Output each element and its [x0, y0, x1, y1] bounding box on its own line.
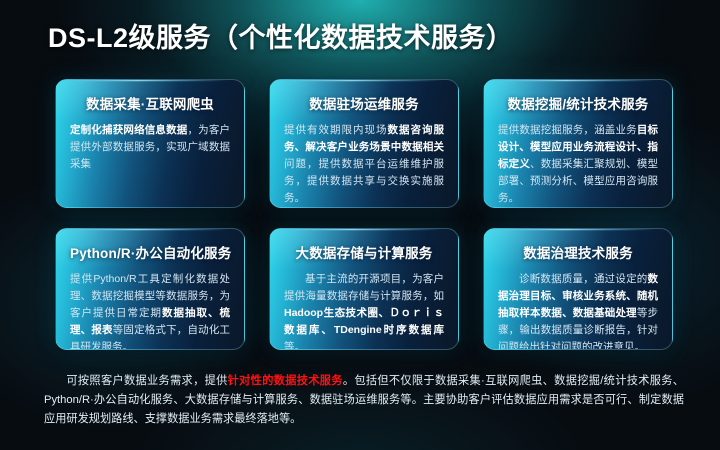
service-card-data-mining[interactable]: 数据挖掘/统计技术服务 提供数据挖掘服务，涵盖业务目标设计、模型应用业务流程设计…	[483, 79, 673, 208]
service-card-data-governance[interactable]: 数据治理技术服务 诊断数据质量，通过设定的数据治理目标、审核业务系统、随机抽取样…	[483, 228, 673, 350]
card-title: 数据采集·互联网爬虫	[70, 93, 230, 113]
card-title: Python/R·办公自动化服务	[70, 242, 230, 262]
card-body-text: 基于主流的开源项目，为客户提供海量数据存储与计算服务，如	[284, 273, 444, 302]
card-body: 提供Python/R工具定制化数据处理、数据挖掘模型等数据服务，为客户提供日常定…	[70, 271, 230, 350]
service-card-grid: 数据采集·互联网爬虫 定制化捕获网络信息数据，为客户提供外部数据服务，实现广域数…	[55, 79, 673, 350]
card-body-text: 提供数据挖掘服务，涵盖业务	[498, 124, 637, 136]
service-card-onsite-ops[interactable]: 数据驻场运维服务 提供有效期限内现场数据咨询服务、解决客户业务场景中数据相关问题…	[269, 79, 459, 208]
card-title: 数据挖掘/统计技术服务	[498, 93, 658, 113]
card-body-text: 等。	[284, 341, 305, 350]
summary-highlight: 针对性的数据技术服务	[228, 375, 343, 387]
card-body-text: 诊断数据质量，通过设定的	[519, 273, 648, 285]
card-body: 提供有效期限内现场数据咨询服务、解决客户业务场景中数据相关问题，提供数据平台运维…	[284, 122, 444, 207]
card-title: 数据驻场运维服务	[284, 93, 444, 113]
page-title: DS-L2级服务（个性化数据技术服务）	[48, 16, 514, 55]
card-title: 大数据存储与计算服务	[284, 242, 444, 262]
card-body-bold: 定制化捕获网络信息数据	[70, 124, 187, 136]
service-card-office-automation[interactable]: Python/R·办公自动化服务 提供Python/R工具定制化数据处理、数据挖…	[55, 228, 245, 350]
card-body-text: 提供有效期限内现场	[284, 124, 388, 136]
service-card-data-collection[interactable]: 数据采集·互联网爬虫 定制化捕获网络信息数据，为客户提供外部数据服务，实现广域数…	[55, 79, 245, 208]
card-body: 诊断数据质量，通过设定的数据治理目标、审核业务系统、随机抽取样本数据、数据基础处…	[498, 271, 658, 350]
summary-paragraph: 可按照客户数据业务需求，提供针对性的数据技术服务。包括但不仅限于数据采集·互联网…	[44, 372, 684, 428]
card-body-text: 问题，提供数据平台运维维护服务，提供数据共享与交换实施服务。	[284, 158, 444, 204]
summary-text-part1: 可按照客户数据业务需求，提供	[66, 375, 227, 387]
card-title: 数据治理技术服务	[498, 242, 658, 262]
card-body-bold: Hadoop生态技术圈、Ｄｏｒｉｓ数据库、TDengine时序数据库	[284, 307, 444, 336]
slide-canvas: DS-L2级服务（个性化数据技术服务） 数据采集·互联网爬虫 定制化捕获网络信息…	[0, 0, 720, 450]
card-body: 基于主流的开源项目，为客户提供海量数据存储与计算服务，如Hadoop生态技术圈、…	[284, 271, 444, 350]
card-body: 提供数据挖掘服务，涵盖业务目标设计、模型应用业务流程设计、指标定义、数据采集汇聚…	[498, 122, 658, 207]
card-body: 定制化捕获网络信息数据，为客户提供外部数据服务，实现广域数据采集	[70, 122, 230, 173]
service-card-bigdata-storage[interactable]: 大数据存储与计算服务 基于主流的开源项目，为客户提供海量数据存储与计算服务，如H…	[269, 228, 459, 350]
